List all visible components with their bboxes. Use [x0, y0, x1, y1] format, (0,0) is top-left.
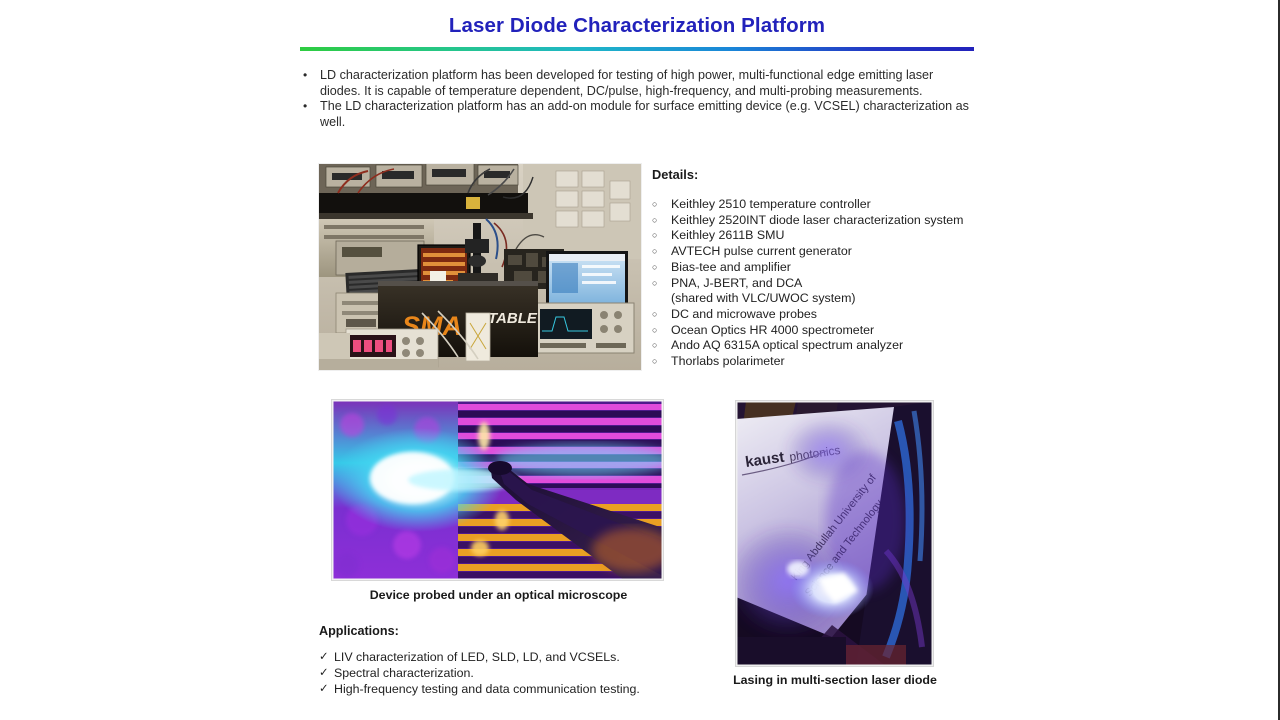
- circle-bullet-icon: ○: [652, 338, 671, 354]
- device-probed-microscope-photo: [332, 400, 663, 580]
- lasing-photo-illustration: kaust photonics King Abdullah University…: [736, 401, 933, 666]
- details-item-text: Ocean Optics HR 4000 spectrometer: [671, 323, 1002, 339]
- details-list-item: ○ Thorlabs polarimeter: [652, 354, 1002, 370]
- applications-list-item: ✓ High-frequency testing and data commun…: [319, 682, 699, 698]
- details-item-text: AVTECH pulse current generator: [671, 244, 1002, 260]
- intro-bullet-item: • The LD characterization platform has a…: [303, 99, 975, 130]
- intro-bullet-text: The LD characterization platform has an …: [320, 99, 975, 130]
- bullet-dot-icon: •: [303, 99, 320, 115]
- details-list-item: ○ PNA, J-BERT, and DCA: [652, 276, 1002, 292]
- check-icon: ✓: [319, 682, 334, 698]
- details-list-item: ○ AVTECH pulse current generator: [652, 244, 1002, 260]
- details-item-text: Thorlabs polarimeter: [671, 354, 1002, 370]
- circle-bullet-icon: ○: [652, 276, 671, 292]
- circle-bullet-icon: ○: [652, 197, 671, 213]
- details-list-item: ○ Ocean Optics HR 4000 spectrometer: [652, 323, 1002, 339]
- details-list-item: ○ DC and microwave probes: [652, 307, 1002, 323]
- check-icon: ✓: [319, 650, 334, 666]
- details-item-text: DC and microwave probes: [671, 307, 1002, 323]
- applications-panel: Applications: ✓ LIV characterization of …: [319, 624, 699, 697]
- details-list-item: ○ Ando AQ 6315A optical spectrum analyze…: [652, 338, 1002, 354]
- page-title: Laser Diode Characterization Platform: [300, 14, 974, 38]
- details-item-continuation: (shared with VLC/UWOC system): [652, 291, 1002, 307]
- bullet-dot-icon: •: [303, 68, 320, 84]
- microscope-photo-caption: Device probed under an optical microscop…: [333, 588, 664, 602]
- slide-canvas: Laser Diode Characterization Platform • …: [0, 0, 1280, 720]
- applications-list-item: ✓ LIV characterization of LED, SLD, LD, …: [319, 650, 699, 666]
- details-heading: Details:: [652, 167, 1002, 182]
- laboratory-setup-illustration: SMA TABLE: [318, 163, 642, 371]
- check-icon: ✓: [319, 666, 334, 682]
- intro-bullet-list: • LD characterization platform has been …: [303, 68, 975, 130]
- details-list-item: ○ Keithley 2520INT diode laser character…: [652, 213, 1002, 229]
- circle-bullet-icon: ○: [652, 354, 671, 370]
- intro-bullet-text: LD characterization platform has been de…: [320, 68, 975, 99]
- title-gradient-rule: [300, 47, 974, 51]
- circle-bullet-icon: ○: [652, 244, 671, 260]
- applications-item-text: Spectral characterization.: [334, 666, 699, 682]
- details-item-text: Bias-tee and amplifier: [671, 260, 1002, 276]
- laboratory-setup-photo: SMA TABLE: [318, 163, 642, 371]
- applications-item-text: LIV characterization of LED, SLD, LD, an…: [334, 650, 699, 666]
- applications-heading: Applications:: [319, 624, 699, 638]
- details-item-text: Keithley 2611B SMU: [671, 228, 1002, 244]
- applications-list-item: ✓ Spectral characterization.: [319, 666, 699, 682]
- circle-bullet-icon: ○: [652, 260, 671, 276]
- microscope-image-illustration: [332, 400, 663, 580]
- lasing-photo-caption: Lasing in multi-section laser diode: [700, 673, 970, 687]
- details-list-item: ○ Bias-tee and amplifier: [652, 260, 1002, 276]
- details-item-text: PNA, J-BERT, and DCA: [671, 276, 1002, 292]
- details-panel: Details: ○ Keithley 2510 temperature con…: [652, 167, 1002, 370]
- details-item-text: Keithley 2510 temperature controller: [671, 197, 1002, 213]
- circle-bullet-icon: ○: [652, 228, 671, 244]
- details-item-text: Keithley 2520INT diode laser characteriz…: [671, 213, 1002, 229]
- svg-text:TABLE: TABLE: [488, 310, 538, 327]
- details-item-text: Ando AQ 6315A optical spectrum analyzer: [671, 338, 1002, 354]
- lasing-multi-section-laser-diode-photo: kaust photonics King Abdullah University…: [736, 401, 933, 666]
- circle-bullet-icon: ○: [652, 307, 671, 323]
- circle-bullet-icon: ○: [652, 213, 671, 229]
- circle-bullet-icon: ○: [652, 323, 671, 339]
- applications-item-text: High-frequency testing and data communic…: [334, 682, 699, 698]
- intro-bullet-item: • LD characterization platform has been …: [303, 68, 975, 99]
- details-list-item: ○ Keithley 2510 temperature controller: [652, 197, 1002, 213]
- details-list-item: ○ Keithley 2611B SMU: [652, 228, 1002, 244]
